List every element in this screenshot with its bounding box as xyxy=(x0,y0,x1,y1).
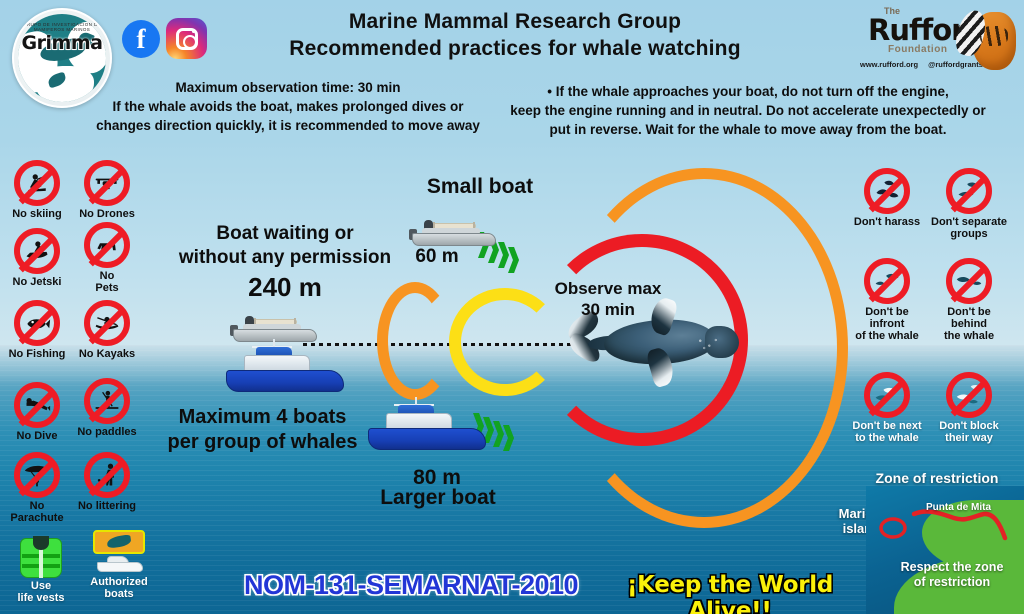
boat-behind-whale-icon xyxy=(946,258,992,304)
icon-label: Don't be behindthe whale xyxy=(930,306,1008,342)
litter-icon xyxy=(84,452,130,498)
observation-time-paragraph: Maximum observation time: 30 minIf the w… xyxy=(78,78,498,135)
boat-next-to-whale-icon xyxy=(864,372,910,418)
respect-zone-label: Respect the zoneof restriction xyxy=(884,560,1020,590)
icon-label: Don't harass xyxy=(848,216,926,228)
prohibition-dont-be-next-to: Don't be nextto the whale xyxy=(848,372,926,444)
prohibition-no-paddles: No paddles xyxy=(68,378,146,438)
arc-240m-orange-inner xyxy=(377,282,453,400)
title-line-2: Recommended practices for whale watching xyxy=(255,35,775,62)
prohibition-dont-separate-groups: Don't separategroups xyxy=(930,168,1008,240)
icon-label: Don't be nextto the whale xyxy=(848,420,926,444)
harass-whales-icon xyxy=(864,168,910,214)
authorized-boat-icon xyxy=(91,530,147,574)
prohibition-no-pets: NoPets xyxy=(68,222,146,294)
max-boats-label: Maximum 4 boatsper group of whales xyxy=(160,405,365,455)
prohibition-no-drones: No Drones xyxy=(68,160,146,220)
icon-label: No Kayaks xyxy=(68,348,146,360)
life-vest-icon xyxy=(20,534,62,578)
restriction-zone-map: Punta de Mita Respect the zoneof restric… xyxy=(866,486,1024,614)
punta-de-mita-label: Punta de Mita xyxy=(926,502,991,513)
prohibition-no-kayaks: No Kayaks xyxy=(68,300,146,360)
icon-label: NoPets xyxy=(68,270,146,294)
small-boat-label: Small boat xyxy=(380,175,580,199)
large-boat-at-80m xyxy=(368,398,486,450)
allowed-authorized-boats: Authorizedboats xyxy=(78,530,160,600)
block-whale-path-icon xyxy=(946,372,992,418)
icon-label: No Drones xyxy=(68,208,146,220)
grimma-microtext: GRUPO DE INVESTIGACION DE MAMIFEROS MARI… xyxy=(14,22,110,32)
prohibition-no-parachute: NoParachute xyxy=(0,452,76,524)
rufford-handle: @ruffordgrants xyxy=(928,60,983,69)
large-boat-label: Larger boat xyxy=(358,486,518,510)
waiting-distance: 240 m xyxy=(195,272,375,303)
prohibition-dont-be-behind: Don't be behindthe whale xyxy=(930,258,1008,342)
allowed-life-vests: Uselife vests xyxy=(0,534,82,604)
icon-label: No Fishing xyxy=(0,348,76,360)
prohibition-no-fishing: No Fishing xyxy=(0,300,76,360)
icon-label: No littering xyxy=(68,500,146,512)
title-line-1: Marine Mammal Research Group xyxy=(255,8,775,35)
icon-label: Uselife vests xyxy=(0,580,82,604)
small-boat-at-60m xyxy=(412,216,496,246)
prohibition-dont-be-infront: Don't be infrontof the whale xyxy=(848,258,926,342)
icon-label: NoParachute xyxy=(0,500,76,524)
waiting-large-boat xyxy=(226,340,344,392)
boat-infront-whale-icon xyxy=(864,258,910,304)
slogan: ¡Keep the World Alive!! xyxy=(600,572,860,614)
icon-label: No skiing xyxy=(0,208,76,220)
small-boat-distance: 60 m xyxy=(405,246,469,268)
icon-label: No Jetski xyxy=(0,276,76,288)
grimma-wordmark: Grimma xyxy=(14,32,110,54)
zone-of-restriction-title: Zone of restriction xyxy=(852,470,1022,486)
observe-max-label: Observe max30 min xyxy=(528,278,688,320)
tiger-icon xyxy=(972,12,1016,70)
parasail-icon xyxy=(14,452,60,498)
icon-label: Don't blocktheir way xyxy=(930,420,1008,444)
infographic-poster: GRUPO DE INVESTIGACION DE MAMIFEROS MARI… xyxy=(0,0,1024,614)
paddleboard-icon xyxy=(84,378,130,424)
boat-waiting-label: Boat waiting orwithout any permission xyxy=(160,222,410,270)
icon-label: No paddles xyxy=(68,426,146,438)
icon-label: Authorizedboats xyxy=(78,576,160,600)
prohibition-dont-harass: Don't harass xyxy=(848,168,926,228)
prohibition-no-littering: No littering xyxy=(68,452,146,512)
rufford-foundation-logo: The Rufford Foundation www.rufford.org @… xyxy=(858,4,1018,76)
fish-icon xyxy=(14,300,60,346)
facebook-icon[interactable]: f xyxy=(122,20,160,58)
separate-groups-icon xyxy=(946,168,992,214)
prohibition-dont-block-way: Don't blocktheir way xyxy=(930,372,1008,444)
rufford-website: www.rufford.org xyxy=(860,60,918,69)
norm-reference: NOM-131-SEMARNAT-2010 xyxy=(236,570,586,601)
jetski-icon xyxy=(14,228,60,274)
icon-label: Don't separategroups xyxy=(930,216,1008,240)
rufford-foundation: Foundation xyxy=(888,44,947,55)
water-skier-icon xyxy=(14,160,60,206)
dog-icon xyxy=(84,222,130,268)
drone-icon xyxy=(84,160,130,206)
icon-label: No Dive xyxy=(0,430,76,442)
instagram-icon[interactable] xyxy=(166,18,207,59)
kayak-icon xyxy=(84,300,130,346)
scuba-diver-icon xyxy=(14,382,60,428)
prohibition-no-jetski: No Jetski xyxy=(0,228,76,288)
page-title: Marine Mammal Research Group Recommended… xyxy=(255,8,775,62)
icon-label: Don't be infrontof the whale xyxy=(848,306,926,342)
prohibition-no-dive: No Dive xyxy=(0,382,76,442)
prohibition-no-skiing: No skiing xyxy=(0,160,76,220)
approach-behavior-paragraph: • If the whale approaches your boat, do … xyxy=(508,82,988,139)
waiting-small-boat xyxy=(233,312,317,342)
